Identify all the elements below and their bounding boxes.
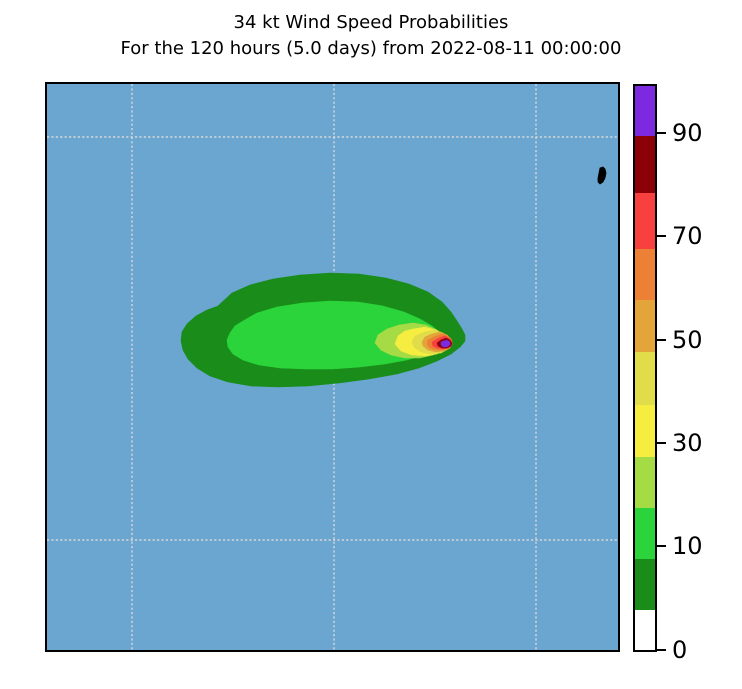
colorbar-tick-group: 90 70 50 30 10 0 — [657, 0, 742, 689]
tick-mark — [657, 649, 666, 651]
title-primary: 34 kt Wind Speed Probabilities — [0, 10, 742, 36]
tick-mark — [657, 235, 666, 237]
colorbar-frame — [633, 84, 657, 652]
tick-mark — [657, 545, 666, 547]
figure-title: 34 kt Wind Speed Probabilities For the 1… — [0, 10, 742, 62]
tick-mark — [657, 132, 666, 134]
map-plot-area — [47, 84, 618, 650]
tick-label: 10 — [672, 531, 703, 561]
tick-label: 70 — [672, 221, 703, 251]
tick-label: 0 — [672, 635, 687, 665]
tick-label: 50 — [672, 325, 703, 355]
colorbar — [633, 84, 657, 652]
tick-mark — [657, 339, 666, 341]
title-secondary: For the 120 hours (5.0 days) from 2022-0… — [0, 36, 742, 62]
tick-label: 90 — [672, 118, 703, 148]
wind-probability-figure: 34 kt Wind Speed Probabilities For the 1… — [0, 0, 742, 689]
tick-mark — [657, 442, 666, 444]
map-panel — [45, 82, 620, 652]
tick-label: 30 — [672, 428, 703, 458]
